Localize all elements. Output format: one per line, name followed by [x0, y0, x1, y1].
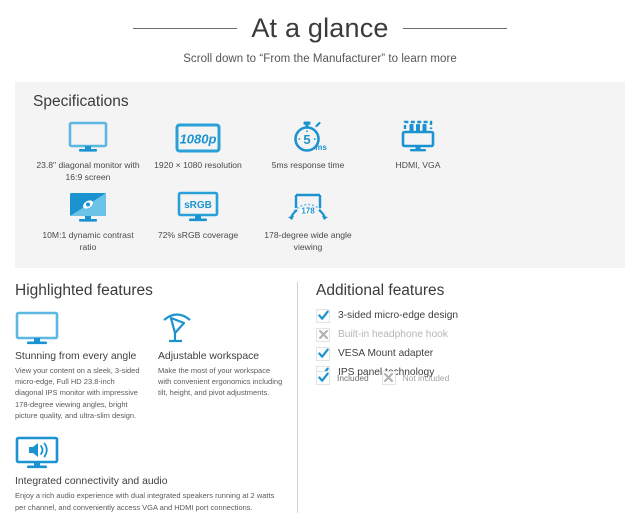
title-rule-right — [403, 28, 507, 29]
title-row: At a glance — [0, 14, 640, 44]
list-item-label: Built-in headphone hook — [338, 329, 448, 340]
svg-text:178: 178 — [301, 207, 315, 216]
legend: Included Not included — [316, 371, 455, 385]
highlighted-features-title: Highlighted features — [15, 282, 283, 300]
list-item: 3-sided micro-edge design — [316, 309, 625, 323]
feature-body: Make the most of your workspace with con… — [158, 365, 283, 399]
highlighted-features-row: Stunning from every angle View your cont… — [15, 309, 283, 422]
spec-item-viewing-angle: 178 178-degree wide angle viewing — [253, 183, 363, 253]
spec-item-srgb: sRGB 72% sRGB coverage — [143, 183, 253, 241]
list-item: VESA Mount adapter — [316, 347, 625, 361]
spec-label: 23.8" diagonal monitor with 16:9 screen — [33, 159, 143, 183]
srgb-monitor-icon: sRGB — [143, 189, 253, 223]
svg-text:1080p: 1080p — [180, 131, 217, 146]
speaker-monitor-icon — [15, 434, 283, 470]
lower-section: Highlighted features Stunning from every… — [15, 282, 625, 513]
spec-label: 10M:1 dynamic contrast ratio — [33, 229, 143, 253]
list-item-label: VESA Mount adapter — [338, 348, 433, 359]
1080p-badge-icon: 1080p — [143, 119, 253, 153]
feature-adjustable-workspace: Adjustable workspace Make the most of yo… — [158, 309, 283, 422]
legend-included-label: Included — [337, 373, 369, 383]
close-icon — [316, 328, 330, 342]
list-item: Built-in headphone hook — [316, 328, 625, 342]
check-icon — [316, 309, 330, 323]
specifications-row-2: 10M:1 dynamic contrast ratio sRGB 72% sR… — [15, 183, 625, 253]
additional-features-title: Additional features — [316, 282, 625, 300]
additional-features-list: 3-sided micro-edge design Built-in headp… — [316, 309, 625, 380]
check-icon — [316, 371, 330, 385]
feature-integrated-connectivity-and-audio: Integrated connectivity and audio Enjoy … — [15, 434, 283, 513]
highlighted-features-column: Highlighted features Stunning from every… — [15, 282, 297, 513]
specifications-title: Specifications — [33, 93, 625, 111]
monitor-icon — [33, 119, 143, 153]
page-title: At a glance — [251, 14, 388, 44]
column-divider — [297, 282, 298, 513]
title-rule-left — [133, 28, 237, 29]
additional-features-column: Additional features 3-sided micro-edge d… — [316, 282, 625, 385]
adjustable-stand-icon — [158, 309, 283, 345]
spec-item-ports: HDMI, VGA — [363, 113, 473, 171]
page-subtitle: Scroll down to “From the Manufacturer” t… — [0, 53, 640, 65]
stopwatch-icon: 5 ms — [253, 119, 363, 153]
feature-body: Enjoy a rich audio experience with dual … — [15, 490, 283, 513]
svg-text:sRGB: sRGB — [184, 200, 212, 211]
specifications-row-1: 23.8" diagonal monitor with 16:9 screen … — [15, 113, 625, 183]
spec-label: 5ms response time — [253, 159, 363, 171]
feature-heading: Adjustable workspace — [158, 350, 283, 363]
legend-not-included-label: Not included — [403, 373, 450, 383]
spec-item-contrast-ratio: 10M:1 dynamic contrast ratio — [33, 183, 143, 253]
svg-text:ms: ms — [315, 143, 327, 152]
feature-stunning-from-every-angle: Stunning from every angle View your cont… — [15, 309, 140, 422]
spec-item-resolution: 1080p 1920 × 1080 resolution — [143, 113, 253, 171]
specifications-card: Specifications 23.8" diagonal monitor wi… — [15, 82, 625, 268]
spec-item-response-time: 5 ms 5ms response time — [253, 113, 363, 171]
list-item-label: 3-sided micro-edge design — [338, 310, 458, 321]
spec-label: 1920 × 1080 resolution — [143, 159, 253, 171]
page-header: At a glance Scroll down to “From the Man… — [0, 0, 640, 65]
monitor-icon — [15, 309, 140, 345]
close-icon — [382, 371, 396, 385]
check-icon — [316, 347, 330, 361]
spec-label: 178-degree wide angle viewing — [253, 229, 363, 253]
svg-text:5: 5 — [303, 132, 310, 147]
at-a-glance-page: At a glance Scroll down to “From the Man… — [0, 0, 640, 480]
contrast-ratio-icon — [33, 189, 143, 223]
spec-item-screen-size: 23.8" diagonal monitor with 16:9 screen — [33, 113, 143, 183]
ports-monitor-icon — [363, 119, 473, 153]
spec-label: HDMI, VGA — [363, 159, 473, 171]
feature-heading: Integrated connectivity and audio — [15, 475, 283, 488]
feature-heading: Stunning from every angle — [15, 350, 140, 363]
spec-label: 72% sRGB coverage — [143, 229, 253, 241]
viewing-angle-icon: 178 — [253, 189, 363, 223]
feature-body: View your content on a sleek, 3-sided mi… — [15, 365, 140, 422]
